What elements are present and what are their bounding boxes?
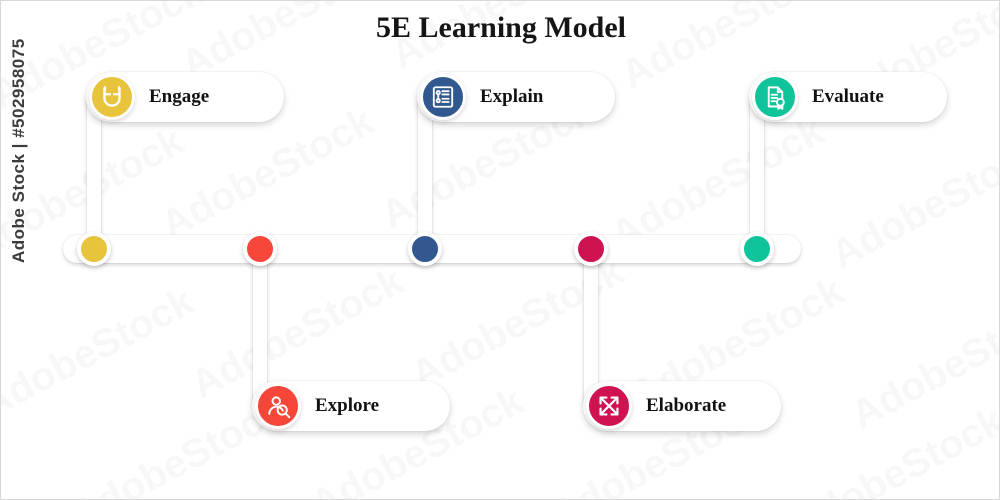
expand-arrows-icon bbox=[586, 383, 632, 429]
timeline-dot-evaluate[interactable] bbox=[740, 232, 774, 266]
user-search-icon bbox=[255, 383, 301, 429]
magnet-icon bbox=[89, 74, 135, 120]
watermark-tile: AdobeStock bbox=[784, 399, 999, 499]
card-label-evaluate: Evaluate bbox=[812, 86, 884, 108]
connector-explain bbox=[418, 97, 432, 247]
watermark-tile: AdobeStock bbox=[1, 279, 201, 428]
page-title: 5E Learning Model bbox=[1, 11, 1000, 45]
certificate-badge-icon bbox=[752, 74, 798, 120]
card-label-engage: Engage bbox=[149, 86, 209, 108]
watermark-tile: AdobeStock bbox=[824, 129, 999, 278]
card-label-elaborate: Elaborate bbox=[646, 395, 726, 417]
checklist-document-icon bbox=[420, 74, 466, 120]
card-label-explain: Explain bbox=[480, 86, 543, 108]
watermark-tile: AdobeStock bbox=[844, 289, 999, 438]
infographic-canvas: AdobeStock AdobeStock AdobeStock AdobeSt… bbox=[0, 0, 1000, 500]
timeline-dot-engage[interactable] bbox=[77, 232, 111, 266]
connector-evaluate bbox=[750, 97, 764, 247]
timeline-dot-explore[interactable] bbox=[243, 232, 277, 266]
stock-credit-label: Adobe Stock | #502958075 bbox=[9, 13, 33, 263]
connector-engage bbox=[87, 97, 101, 247]
timeline-dot-elaborate[interactable] bbox=[574, 232, 608, 266]
card-label-explore: Explore bbox=[315, 395, 379, 417]
timeline-dot-explain[interactable] bbox=[408, 232, 442, 266]
